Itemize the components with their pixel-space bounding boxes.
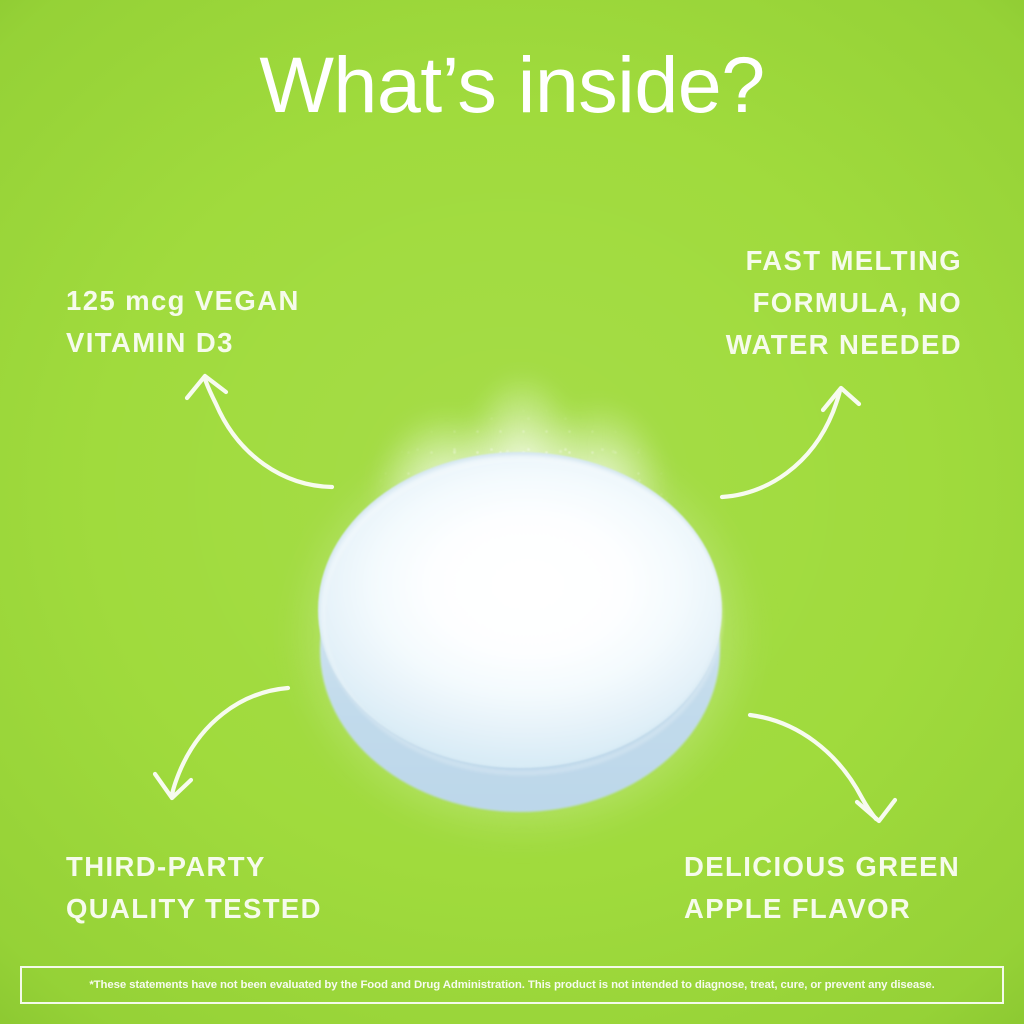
callout-bottom-left: THIRD-PARTY QUALITY TESTED: [66, 846, 322, 930]
product-infographic: What’s inside? 125 mcg VEGAN: [0, 0, 1024, 1024]
page-title: What’s inside?: [0, 44, 1024, 127]
effervescent-tablet-image: [318, 452, 722, 818]
tablet-rim-highlight: [322, 458, 722, 774]
callout-bottom-right: DELICIOUS GREEN APPLE FLAVOR: [684, 846, 960, 930]
callout-top-left: 125 mcg VEGAN VITAMIN D3: [66, 280, 300, 364]
callout-top-right: FAST MELTING FORMULA, NO WATER NEEDED: [726, 240, 962, 365]
disclaimer-box: *These statements have not been evaluate…: [20, 966, 1004, 1004]
disclaimer-text: *These statements have not been evaluate…: [89, 979, 934, 991]
